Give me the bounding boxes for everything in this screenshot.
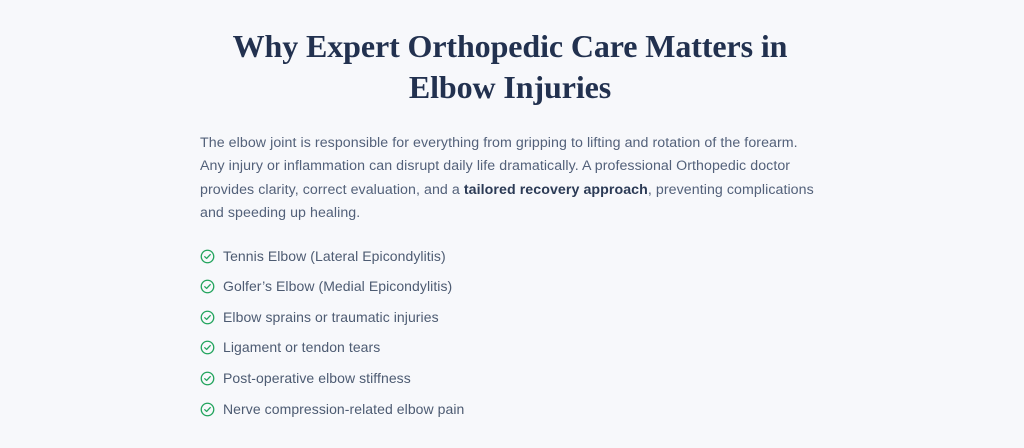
list-item-label: Nerve compression-related elbow pain [223, 401, 464, 417]
list-item-label: Ligament or tendon tears [223, 339, 380, 355]
paragraph-emphasis: tailored recovery approach [464, 182, 648, 198]
check-circle-icon [200, 310, 215, 325]
list-item: Tennis Elbow (Lateral Epicondylitis) [200, 248, 820, 264]
list-item-label: Post-operative elbow stiffness [223, 370, 411, 386]
list-item-label: Golfer’s Elbow (Medial Epicondylitis) [223, 278, 452, 294]
page-title: Why Expert Orthopedic Care Matters in El… [200, 0, 820, 109]
list-item: Post-operative elbow stiffness [200, 370, 820, 386]
intro-paragraph: The elbow joint is responsible for every… [200, 109, 820, 226]
check-circle-icon [200, 340, 215, 355]
check-circle-icon [200, 371, 215, 386]
list-item: Nerve compression-related elbow pain [200, 401, 820, 417]
page-root: Why Expert Orthopedic Care Matters in El… [0, 0, 1024, 448]
condition-list: Tennis Elbow (Lateral Epicondylitis) Gol… [200, 226, 820, 417]
check-circle-icon [200, 249, 215, 264]
content-column: Why Expert Orthopedic Care Matters in El… [200, 0, 820, 431]
check-circle-icon [200, 279, 215, 294]
list-item: Golfer’s Elbow (Medial Epicondylitis) [200, 278, 820, 294]
list-item-label: Elbow sprains or traumatic injuries [223, 309, 439, 325]
list-item: Elbow sprains or traumatic injuries [200, 309, 820, 325]
list-item-label: Tennis Elbow (Lateral Epicondylitis) [223, 248, 446, 264]
list-item: Ligament or tendon tears [200, 339, 820, 355]
check-circle-icon [200, 402, 215, 417]
